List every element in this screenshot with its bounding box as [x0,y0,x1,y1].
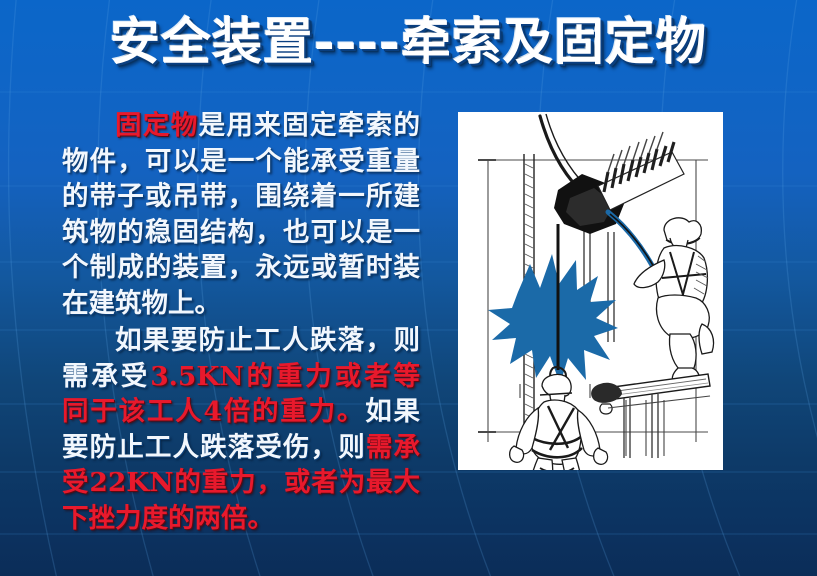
illustration-drawing [458,112,723,470]
slide-body-text: 固定物是用来固定牵索的物件，可以是一个能承受重量的带子或吊带，围绕着一所建筑物的… [62,108,420,536]
scaffold-plank [591,374,710,458]
page-title: 安全装置----牵索及固定物 [110,6,707,78]
paragraph-2: 如果要防止工人跌落，则需承受3.5KN的重力或者等同于该工人4倍的重力。如果要防… [62,323,420,536]
paragraph-1: 固定物是用来固定牵索的物件，可以是一个能承受重量的带子或吊带，围绕着一所建筑物的… [62,108,420,321]
p1-run-0: 固定物 [115,110,199,141]
starburst-highlight [488,254,618,384]
worker-on-scaffold [634,218,714,384]
p1-run-1: 是用来固定牵索的物件，可以是一个能承受重量的带子或吊带，围绕着一所建筑物的稳固结… [62,110,420,319]
slide-title-bar: 安全装置----牵索及固定物 [0,6,817,84]
safety-anchor-illustration [458,112,723,470]
hatched-beam [598,132,684,210]
presentation-slide: 安全装置----牵索及固定物 固定物是用来固定牵索的物件，可以是一个能承受重量的… [0,0,817,576]
